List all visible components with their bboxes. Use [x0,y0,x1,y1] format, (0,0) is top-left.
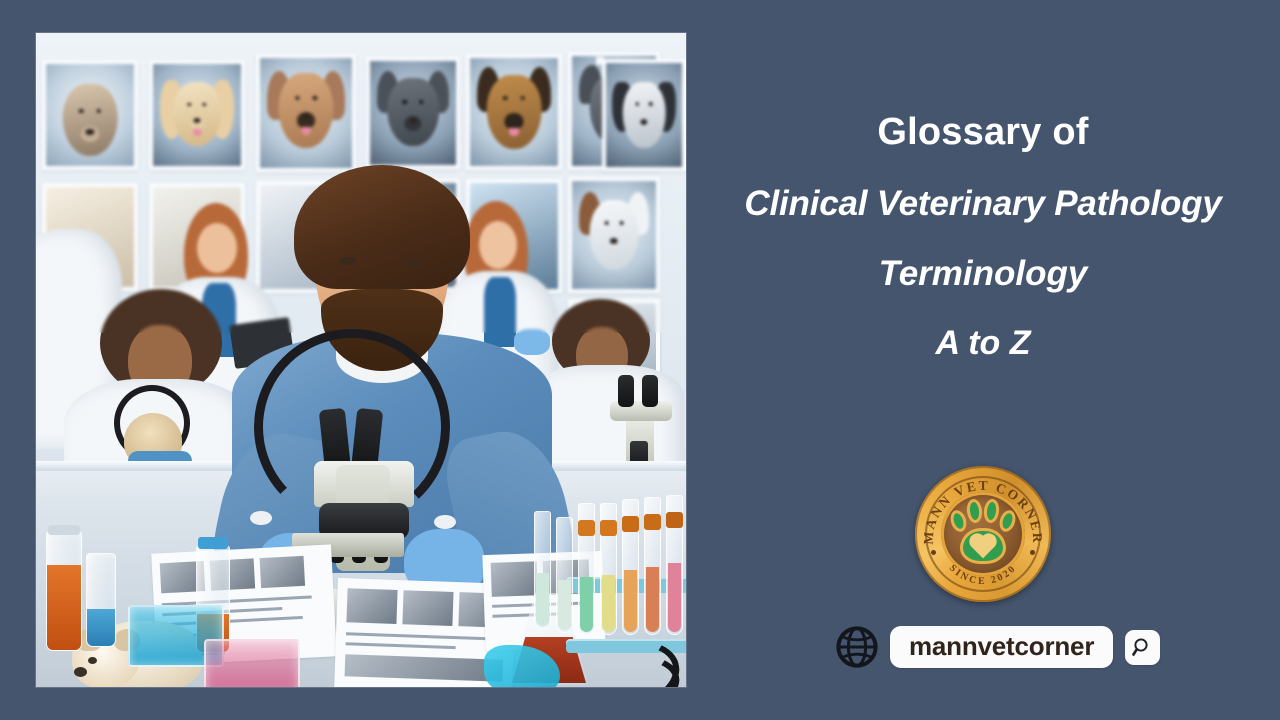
handle-pill[interactable]: mannvetcorner [890,626,1113,668]
test-tube [644,497,661,635]
paw-toe [997,508,1018,534]
heart-icon [972,535,995,558]
social-handle-bar: mannvetcorner [836,626,1160,668]
badge-dot [1030,550,1035,555]
reagent-bottle [86,553,116,647]
badge-bottom-text: SINCE 2020 [947,563,1019,587]
wall-photo-frame [149,60,245,170]
staff-scrub-top [484,277,516,347]
page-title-line-2: Clinical Veterinary Pathology [700,183,1266,225]
veterinary-lab-photo [36,33,686,687]
bottle-cap [198,537,228,549]
test-tube [622,499,639,635]
search-icon [1132,637,1153,658]
paw-print-icon [951,498,1015,566]
gloved-hand [514,329,550,355]
wall-photo-frame [42,60,138,170]
page-title-line-4: A to Z [700,323,1266,364]
search-button[interactable] [1125,630,1160,665]
vet-eye [404,259,422,267]
wall-photo-frame [568,177,660,293]
test-tube [600,503,617,635]
test-tube [578,503,595,635]
page-title-line-1: Glossary of [700,110,1266,155]
test-tube [534,511,551,629]
puppy-eye [88,657,97,664]
test-tube [666,495,683,635]
paw-toe [948,508,969,534]
paw-toe [983,498,1001,524]
stethoscope-earpiece [250,511,272,525]
title-block: Glossary of Clinical Veterinary Patholog… [700,110,1266,364]
puppy-nose [74,667,87,677]
pink-culture-flask [204,639,300,687]
staff-face [197,223,237,273]
badge-dot [931,550,936,555]
staff-face [479,221,517,269]
paw-pad [960,528,1006,564]
test-tube [556,517,573,633]
vet-eye [339,257,357,265]
bottle-cap [48,525,80,535]
page-title-line-3: Terminology [700,253,1266,295]
mann-vet-corner-logo: MANN VET CORNER SINCE 2020 [915,466,1051,602]
wall-photo-frame [466,54,562,170]
wall-photo-frame [602,59,686,171]
stethoscope-earpiece [434,515,456,529]
reagent-bottle [46,531,82,651]
wall-photo-frame [256,54,356,172]
svg-text:SINCE 2020: SINCE 2020 [947,563,1019,587]
paw-toe [966,498,984,524]
globe-icon[interactable] [836,626,878,668]
wall-photo-frame [366,57,460,169]
